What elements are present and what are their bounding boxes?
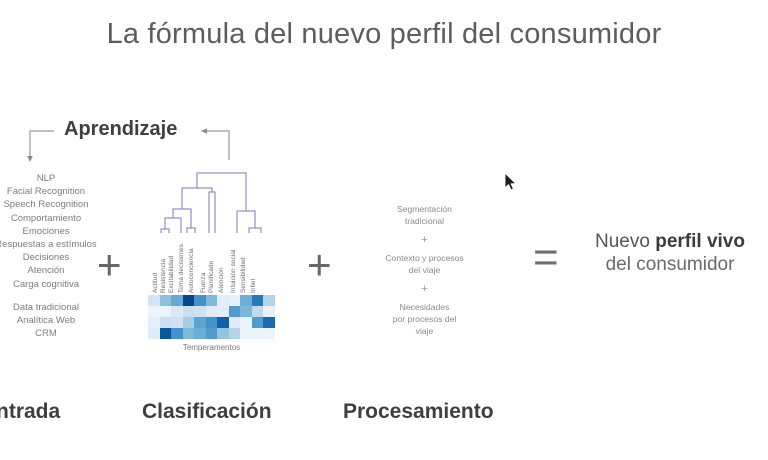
heatmap-cell — [217, 306, 229, 317]
heatmap-cell — [160, 306, 172, 317]
dendro-leaf-label: Sensibilidad — [240, 257, 247, 293]
heatmap-cell — [171, 328, 183, 339]
procesamiento-line: Contexto y procesos — [352, 253, 497, 265]
dendrogram-svg — [157, 165, 277, 237]
heatmap-cell — [252, 317, 264, 328]
heatmap-cell — [206, 295, 218, 306]
dendro-leaf-label: Excitabilidad — [168, 256, 175, 293]
dendrogram-chart — [157, 165, 277, 237]
mouse-cursor-icon — [504, 172, 518, 192]
heatmap-cell — [229, 295, 241, 306]
entrada-item: NLP — [0, 172, 130, 185]
heatmap-cell — [160, 328, 172, 339]
operator-equals: = — [533, 236, 559, 280]
heatmap-cell — [171, 306, 183, 317]
heatmap-cell — [148, 328, 160, 339]
learning-header-group: Aprendizaje — [24, 118, 264, 166]
entrada-item: Speech Recognition — [0, 198, 130, 211]
heatmap-cell — [252, 306, 264, 317]
heatmap-cell — [252, 328, 264, 339]
temperament-heatmap — [148, 295, 275, 339]
heatmap-cell — [217, 295, 229, 306]
dendro-leaf-label: Planificado — [208, 261, 215, 293]
dendro-leaf-label: Infiel — [250, 279, 257, 293]
dendro-leaf-label: Fuerza — [200, 273, 207, 294]
heatmap-caption: Temperamentos — [148, 343, 275, 352]
entrada-item: Decisiones — [0, 251, 130, 264]
entrada-item: Atención — [0, 264, 130, 277]
procesamiento-column: Segmentacióntradicional + Contexto y pro… — [352, 204, 497, 337]
entrada-item: Facial Recognition — [0, 185, 130, 198]
heatmap-cell — [217, 328, 229, 339]
dendro-leaf-label: Intuición social — [230, 249, 237, 293]
heatmap-cell — [171, 295, 183, 306]
procesamiento-block: Segmentacióntradicional — [352, 204, 497, 227]
heatmap-cell — [148, 306, 160, 317]
entrada-item: Emociones — [0, 225, 130, 238]
heatmap-cell — [194, 295, 206, 306]
heatmap-cell — [194, 317, 206, 328]
procesamiento-line: por procesos del — [352, 314, 497, 326]
procesamiento-block: Contexto y procesosdel viaje — [352, 253, 497, 276]
heatmap-cell — [217, 317, 229, 328]
heatmap-cell — [194, 328, 206, 339]
operator-plus-2: + — [307, 244, 332, 286]
procesamiento-line: del viaje — [352, 265, 497, 277]
entrada-item: Data tradicional — [0, 301, 130, 314]
dendro-leaf-label: Atención — [218, 267, 225, 293]
procesamiento-line: Segmentación — [352, 204, 497, 216]
result-line-primary: Nuevo perfil vivo — [574, 231, 766, 253]
heatmap-cell — [206, 317, 218, 328]
heatmap-cell — [183, 317, 195, 328]
entrada-item: Comportamiento — [0, 212, 130, 225]
heatmap-cell — [160, 295, 172, 306]
heatmap-cell — [206, 328, 218, 339]
learning-bracket-right-icon — [24, 118, 264, 166]
dendro-leaf-label: Actitud — [152, 273, 159, 293]
result-block: Nuevo perfil vivo del consumidor — [574, 231, 766, 276]
entrada-item: Analítica Web — [0, 314, 130, 327]
heatmap-cell — [206, 306, 218, 317]
stage-label-procesamiento: Procesamiento — [343, 400, 494, 424]
entrada-column: NLP Facial Recognition Speech Recognitio… — [0, 172, 130, 340]
heatmap-cell — [229, 328, 241, 339]
procesamiento-plus: + — [352, 276, 497, 302]
entrada-item: Carga cognitiva — [0, 278, 130, 291]
heatmap-cell — [171, 317, 183, 328]
heatmap-cell — [240, 328, 252, 339]
entrada-items-group-2: Data tradicional Analítica Web CRM — [0, 301, 130, 341]
stage-label-clasificacion: Clasificación — [142, 400, 272, 424]
heatmap-cell — [240, 306, 252, 317]
entrada-group-separator — [0, 291, 130, 301]
dendro-leaf-label: Resistencia — [160, 259, 167, 293]
heatmap-cell — [183, 295, 195, 306]
result-line-secondary: del consumidor — [574, 254, 766, 276]
heatmap-cell — [240, 317, 252, 328]
procesamiento-plus: + — [352, 227, 497, 253]
procesamiento-block: Necesidadespor procesos delviaje — [352, 302, 497, 337]
dendro-leaf-label: Autoconciencia — [188, 248, 195, 293]
heatmap-cell — [148, 317, 160, 328]
heatmap-cell — [263, 295, 275, 306]
heatmap-cell — [194, 306, 206, 317]
heatmap-cell — [183, 328, 195, 339]
entrada-item: CRM — [0, 327, 130, 340]
result-emphasis: perfil vivo — [655, 231, 745, 252]
clasificacion-column: Actitud Resistencia Excitabilidad Toma d… — [145, 165, 280, 352]
heatmap-cell — [229, 317, 241, 328]
procesamiento-line: viaje — [352, 326, 497, 338]
heatmap-cell — [229, 306, 241, 317]
heatmap-cell — [148, 295, 160, 306]
heatmap-cell — [160, 317, 172, 328]
page-title: La fórmula del nuevo perfil del consumid… — [0, 18, 768, 51]
dendrogram-leaf-labels: Actitud Resistencia Excitabilidad Toma d… — [157, 237, 280, 293]
stage-label-entrada: Entrada — [0, 400, 60, 424]
heatmap-cell — [263, 306, 275, 317]
result-prefix: Nuevo — [595, 231, 655, 252]
heatmap-cell — [263, 317, 275, 328]
procesamiento-line: Necesidades — [352, 302, 497, 314]
entrada-item: Respuestas a estímulos — [0, 238, 130, 251]
procesamiento-line: tradicional — [352, 216, 497, 228]
heatmap-cell — [240, 295, 252, 306]
heatmap-cell — [263, 328, 275, 339]
heatmap-cell — [183, 306, 195, 317]
entrada-items-group-1: NLP Facial Recognition Speech Recognitio… — [0, 172, 130, 291]
dendro-leaf-label: Toma decisiones — [178, 244, 185, 293]
heatmap-cell — [252, 295, 264, 306]
